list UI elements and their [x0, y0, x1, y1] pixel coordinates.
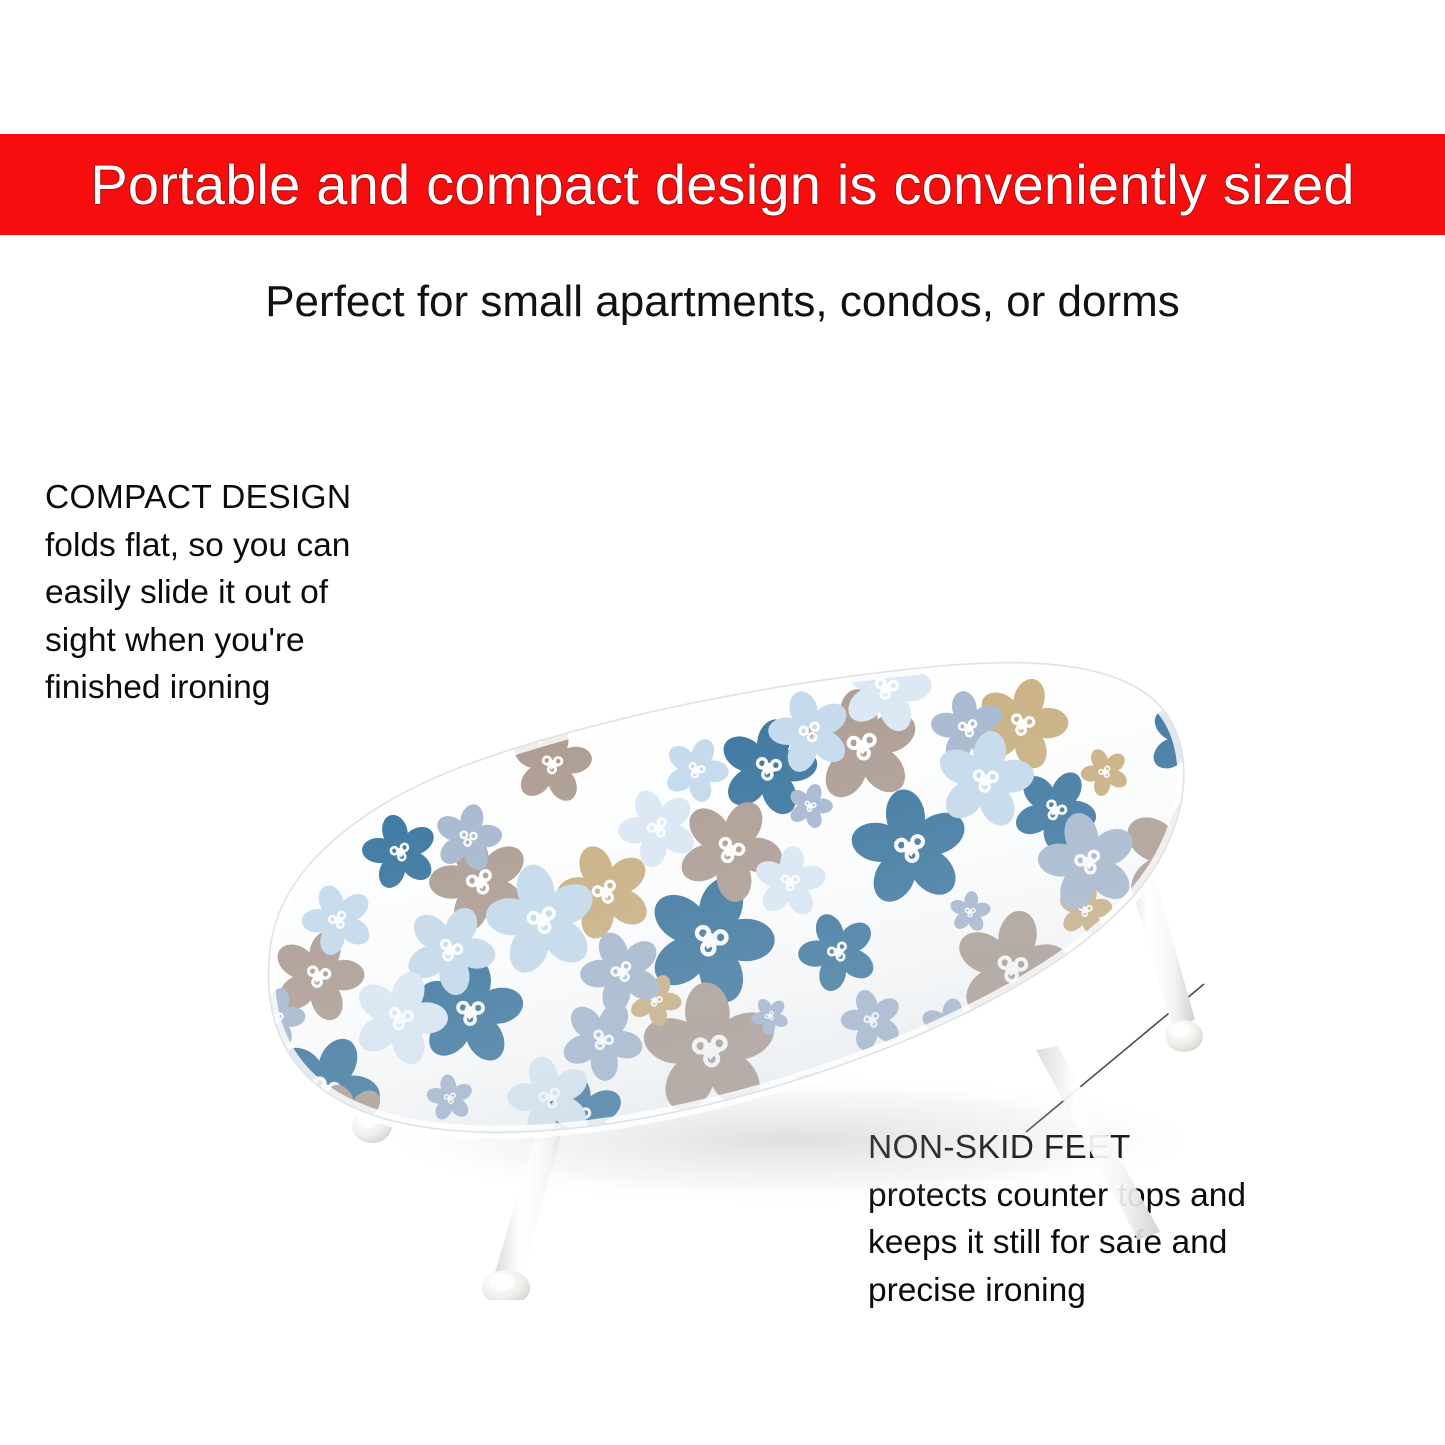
subtitle-text: Perfect for small apartments, condos, or…: [0, 279, 1445, 325]
product-image-ironing-board: [150, 620, 1330, 1300]
callout-compact-design-line-2: easily slide it out of: [45, 569, 445, 617]
callout-compact-design-line-1: folds flat, so you can: [45, 522, 445, 570]
infographic-page: Portable and compact design is convenien…: [0, 0, 1445, 1445]
callout-compact-design-heading: COMPACT DESIGN: [45, 474, 445, 522]
headline-banner: Portable and compact design is convenien…: [0, 134, 1445, 235]
headline-text: Portable and compact design is convenien…: [90, 157, 1354, 213]
